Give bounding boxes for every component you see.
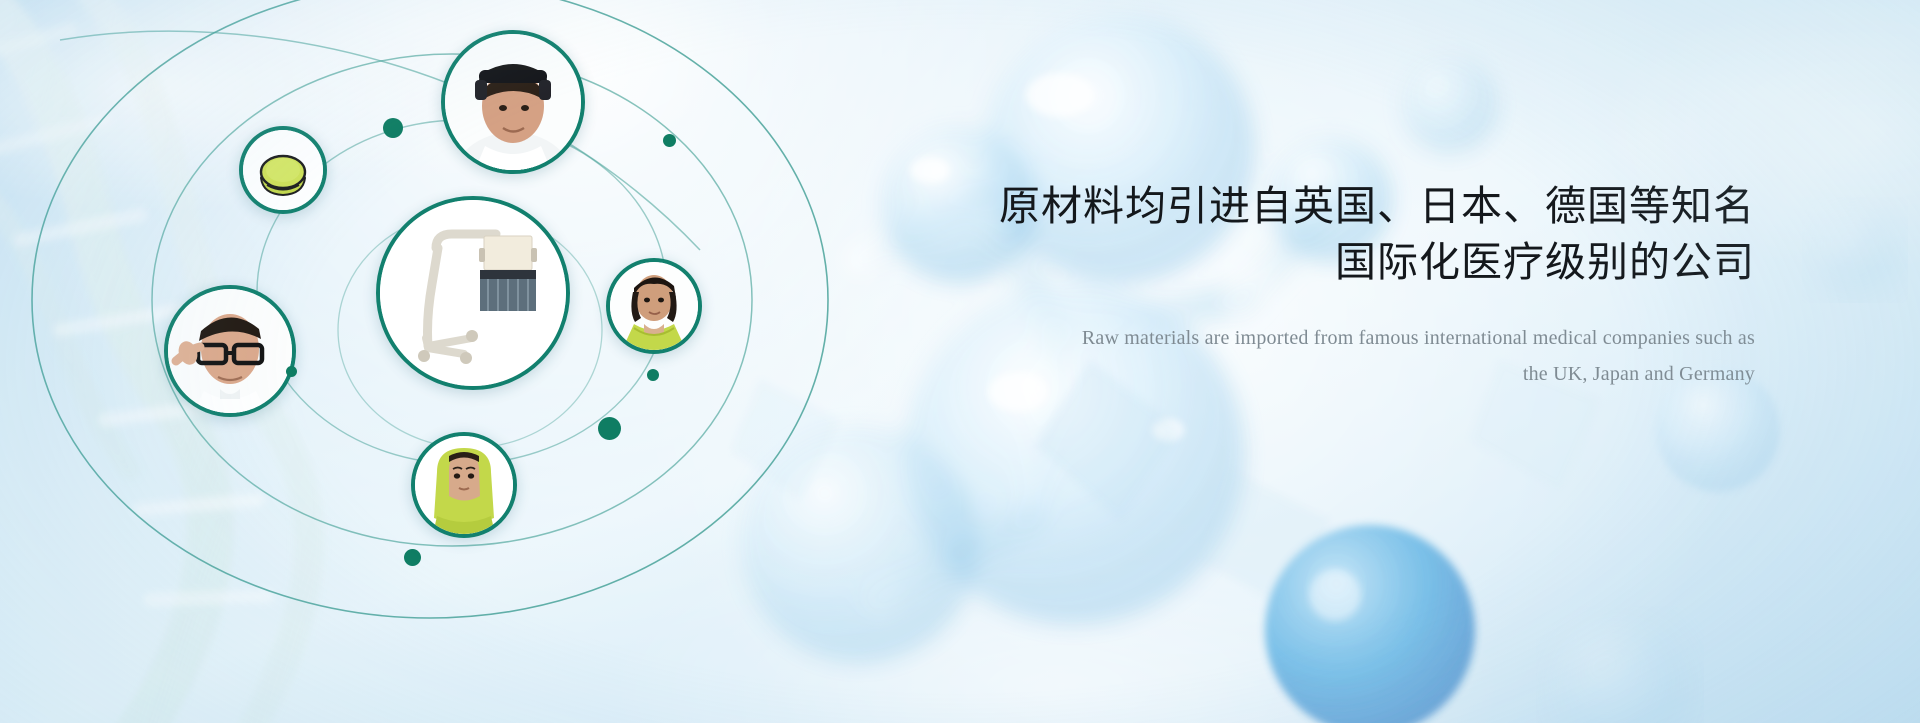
hero-banner: 原材料均引进自英国、日本、德国等知名 国际化医疗级别的公司 Raw materi… [0, 0, 1920, 723]
node-mobile-lead-shield-stand[interactable] [376, 196, 570, 390]
banner-subtitle: Raw materials are imported from famous i… [995, 320, 1755, 392]
node-yellow-protective-cap[interactable] [239, 126, 327, 214]
photo-lead-shield-stand [380, 200, 566, 386]
photo-thyroid-collar-woman [610, 262, 698, 350]
pale-sphere-far-right [1811, 206, 1899, 294]
accent-dot-2 [663, 134, 676, 147]
accent-dot-6 [404, 549, 421, 566]
headline-line-1: 原材料均引进自英国、日本、德国等知名 [999, 182, 1755, 230]
subtitle-line-1: Raw materials are imported from famous i… [1082, 327, 1755, 349]
photo-protective-hood-woman [415, 436, 513, 534]
photo-lead-glasses-man [168, 289, 292, 413]
accent-dot-4 [647, 369, 659, 381]
accent-dot-5 [598, 417, 621, 440]
banner-text-block: 原材料均引进自英国、日本、德国等知名 国际化医疗级别的公司 Raw materi… [995, 178, 1755, 392]
pale-sphere-bottom [1550, 620, 1690, 723]
node-thyroid-collar-woman[interactable] [606, 258, 702, 354]
headline-line-2: 国际化医疗级别的公司 [995, 234, 1755, 290]
photo-head-cap-man [445, 34, 581, 170]
banner-headline: 原材料均引进自英国、日本、德国等知名 国际化医疗级别的公司 [995, 178, 1755, 290]
accent-dot-1 [383, 118, 403, 138]
product-orbit-cluster [0, 0, 900, 723]
node-x-ray-protective-head-cap-man[interactable] [441, 30, 585, 174]
node-lead-glasses-man[interactable] [164, 285, 296, 417]
accent-dot-3 [286, 366, 297, 377]
photo-yellow-cap [243, 130, 323, 210]
node-protective-hood-woman[interactable] [411, 432, 517, 538]
subtitle-line-2: the UK, Japan and Germany [995, 356, 1755, 392]
